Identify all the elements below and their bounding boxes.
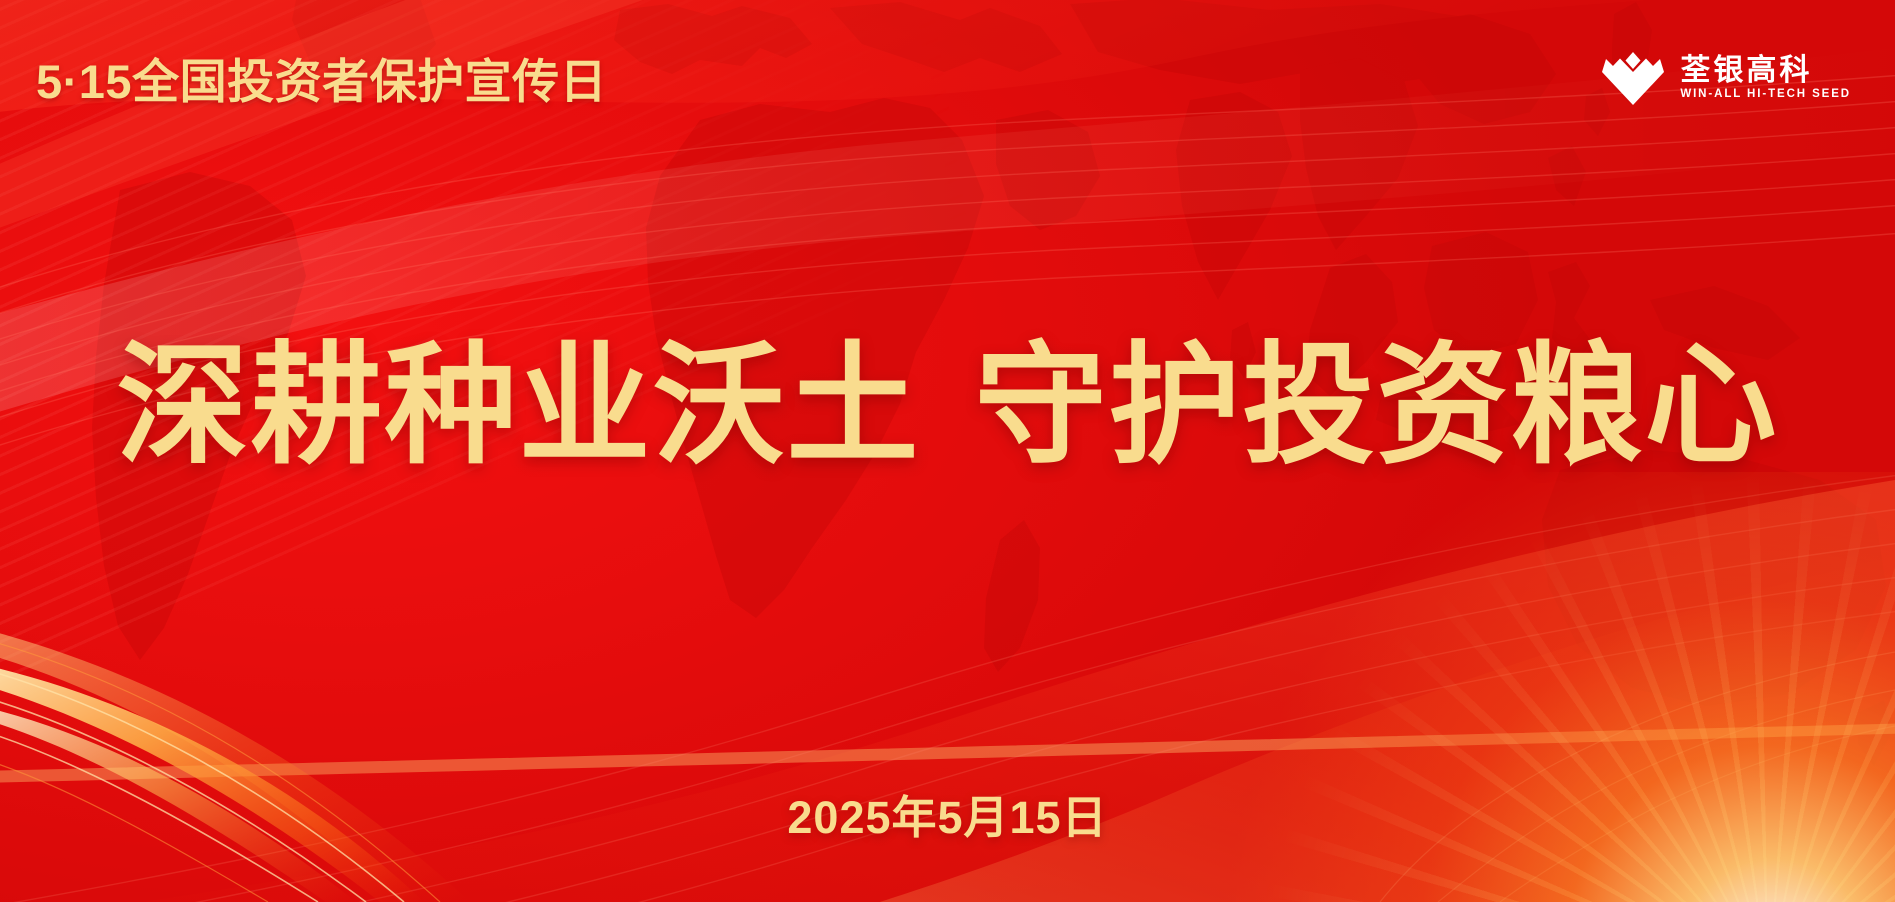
company-name-en: WIN-ALL HI-TECH SEED: [1680, 89, 1851, 101]
company-logo: 荃银高科 WIN-ALL HI-TECH SEED: [1602, 44, 1851, 106]
win-all-chevron-logo-icon: [1602, 50, 1664, 106]
date-block: 2025年5月15日: [0, 795, 1895, 840]
event-tag-label: 5·15全国投资者保护宣传日: [36, 46, 607, 105]
slogan-part-a: 深耕种业沃土: [117, 332, 921, 479]
investor-protection-banner: 5·15全国投资者保护宣传日 荃银高科 WIN-ALL HI-TECH SEED: [0, 0, 1895, 902]
banner-header: 5·15全国投资者保护宣传日 荃银高科 WIN-ALL HI-TECH SEED: [0, 0, 1895, 150]
company-logo-wordmark: 荃银高科 WIN-ALL HI-TECH SEED: [1680, 56, 1851, 101]
event-date-label: 2025年5月15日: [787, 795, 1107, 840]
company-name-cn: 荃银高科: [1680, 56, 1812, 86]
golden-light-swoosh: [0, 572, 760, 902]
slogan-text: 深耕种业沃土守护投资粮心: [117, 332, 1779, 480]
slogan-part-b: 守护投资粮心: [975, 332, 1779, 479]
slogan-block: 深耕种业沃土守护投资粮心: [0, 332, 1895, 480]
